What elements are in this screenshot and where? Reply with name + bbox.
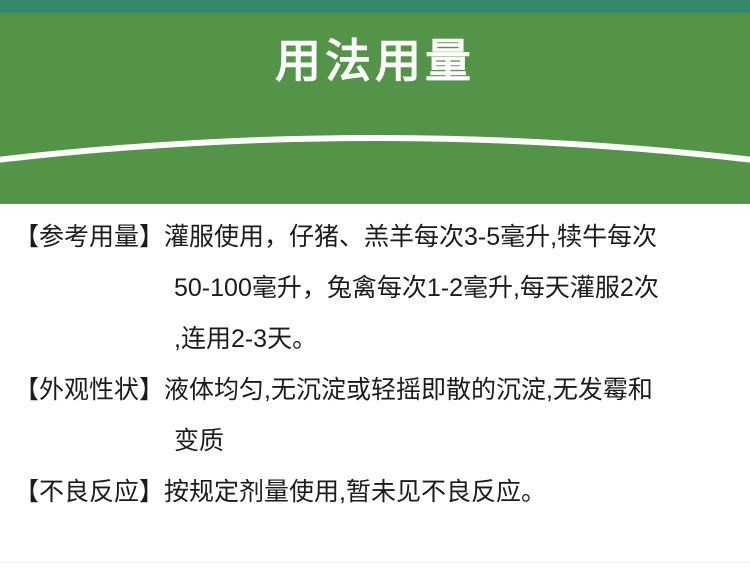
instruction-list: 【参考用量】灌服使用，仔猪、羔羊每次3-5毫升,犊牛每次 50-100毫升，兔禽… <box>14 212 738 518</box>
decorative-arc-icon <box>0 100 750 204</box>
top-accent-strip <box>0 0 750 13</box>
section-adverse-reactions: 【不良反应】按规定剂量使用,暂未见不良反应。 <box>14 467 738 518</box>
body-content-area: 【参考用量】灌服使用，仔猪、羔羊每次3-5毫升,犊牛每次 50-100毫升，兔禽… <box>0 204 750 580</box>
section-adverse-reactions-line-1: 【不良反应】按规定剂量使用,暂未见不良反应。 <box>14 467 738 518</box>
page-title: 用法用量 <box>0 33 750 91</box>
section-dosage-line-3: ,连用2-3天。 <box>14 314 738 365</box>
section-appearance-line-1: 【外观性状】液体均匀,无沉淀或轻摇即散的沉淀,无发霉和 <box>14 365 738 416</box>
section-dosage-line-2: 50-100毫升，兔禽每次1-2毫升,每天灌服2次 <box>14 263 738 314</box>
section-appearance: 【外观性状】液体均匀,无沉淀或轻摇即散的沉淀,无发霉和 变质 <box>14 365 738 467</box>
section-dosage-line-1: 【参考用量】灌服使用，仔猪、羔羊每次3-5毫升,犊牛每次 <box>14 212 738 263</box>
section-appearance-line-2: 变质 <box>14 416 738 467</box>
header-banner: 用法用量 <box>0 0 750 204</box>
section-dosage: 【参考用量】灌服使用，仔猪、羔羊每次3-5毫升,犊牛每次 50-100毫升，兔禽… <box>14 212 738 365</box>
bottom-divider <box>0 562 750 563</box>
product-info-panel: 用法用量 【参考用量】灌服使用，仔猪、羔羊每次3-5毫升,犊牛每次 50-100… <box>0 0 750 580</box>
